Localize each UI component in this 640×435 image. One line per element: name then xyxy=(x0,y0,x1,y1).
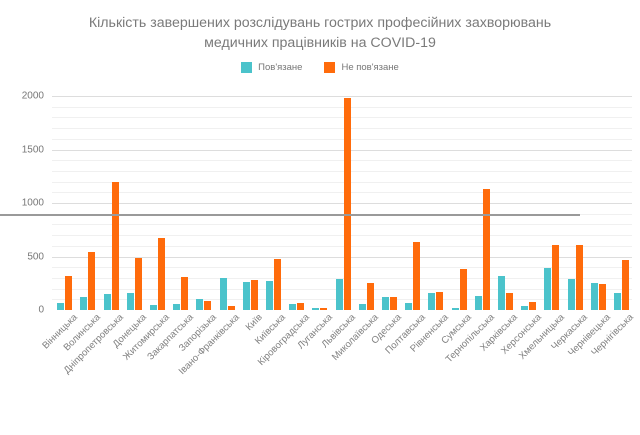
bar-group xyxy=(196,96,211,310)
bar[interactable] xyxy=(158,238,165,310)
bar[interactable] xyxy=(367,283,374,310)
bar[interactable] xyxy=(112,182,119,310)
bar-group xyxy=(80,96,95,310)
bar-group xyxy=(568,96,583,310)
bar[interactable] xyxy=(266,281,273,310)
bar[interactable] xyxy=(196,299,203,310)
bar[interactable] xyxy=(289,304,296,310)
bar[interactable] xyxy=(544,268,551,310)
bar-group xyxy=(312,96,327,310)
bar[interactable] xyxy=(274,259,281,310)
bar-group xyxy=(336,96,351,310)
bar-group xyxy=(104,96,119,310)
bar[interactable] xyxy=(576,245,583,310)
bar-group xyxy=(614,96,629,310)
bar-group xyxy=(591,96,606,310)
bar[interactable] xyxy=(204,301,211,310)
bar[interactable] xyxy=(498,276,505,310)
chart-title: Кількість завершених розслідувань гостри… xyxy=(0,13,640,53)
bar-group xyxy=(243,96,258,310)
bar[interactable] xyxy=(173,304,180,310)
plot-area xyxy=(52,96,632,310)
bar[interactable] xyxy=(135,258,142,310)
bar-group xyxy=(150,96,165,310)
bar[interactable] xyxy=(506,293,513,310)
bar[interactable] xyxy=(359,304,366,310)
bar[interactable] xyxy=(150,305,157,310)
legend-swatch-unrelated xyxy=(324,62,335,73)
bar-group xyxy=(544,96,559,310)
bar[interactable] xyxy=(127,293,134,310)
bar[interactable] xyxy=(475,296,482,310)
bar-group xyxy=(220,96,235,310)
bar[interactable] xyxy=(436,292,443,310)
bar[interactable] xyxy=(320,308,327,310)
bar[interactable] xyxy=(181,277,188,310)
bar[interactable] xyxy=(568,279,575,310)
bar[interactable] xyxy=(104,294,111,310)
bar[interactable] xyxy=(390,297,397,310)
bar[interactable] xyxy=(57,303,64,310)
legend-label-1: Не пов'язане xyxy=(341,62,398,73)
bar-group xyxy=(359,96,374,310)
y-tick-label-2000: 2000 xyxy=(0,91,44,102)
bar[interactable] xyxy=(405,303,412,310)
bar[interactable] xyxy=(312,308,319,310)
bar-group xyxy=(475,96,490,310)
y-tick-label-500: 500 xyxy=(0,251,44,262)
legend-label-0: Пов'язане xyxy=(258,62,302,73)
bar-group xyxy=(428,96,443,310)
bar-group xyxy=(452,96,467,310)
bar[interactable] xyxy=(80,297,87,310)
bar[interactable] xyxy=(452,308,459,310)
bar-group xyxy=(521,96,536,310)
y-tick-label-1000: 1000 xyxy=(0,198,44,209)
legend-entry-1[interactable]: Не пов'язане xyxy=(324,62,398,73)
bar[interactable] xyxy=(529,302,536,310)
bar-group xyxy=(405,96,420,310)
bar[interactable] xyxy=(428,293,435,310)
bar[interactable] xyxy=(344,98,351,310)
bar-group xyxy=(266,96,281,310)
bar[interactable] xyxy=(297,303,304,310)
legend-swatch-related xyxy=(241,62,252,73)
y-tick-label-1500: 1500 xyxy=(0,144,44,155)
bar[interactable] xyxy=(614,293,621,310)
bar[interactable] xyxy=(521,306,528,310)
bar[interactable] xyxy=(460,269,467,310)
x-axis-line xyxy=(0,214,580,216)
bar[interactable] xyxy=(413,242,420,310)
bar[interactable] xyxy=(65,276,72,310)
bar[interactable] xyxy=(591,283,598,310)
bar-group xyxy=(173,96,188,310)
bar-group xyxy=(127,96,142,310)
bar-group xyxy=(289,96,304,310)
bar[interactable] xyxy=(88,252,95,310)
bar[interactable] xyxy=(243,282,250,310)
bar[interactable] xyxy=(251,280,258,310)
legend-entry-0[interactable]: Пов'язане xyxy=(241,62,302,73)
bar[interactable] xyxy=(336,279,343,310)
bar-group xyxy=(382,96,397,310)
bar[interactable] xyxy=(622,260,629,310)
bar[interactable] xyxy=(483,189,490,310)
bar[interactable] xyxy=(220,278,227,310)
bar[interactable] xyxy=(382,297,389,310)
bar[interactable] xyxy=(552,245,559,310)
bar[interactable] xyxy=(599,284,606,310)
chart-legend: Пов'язанеНе пов'язане xyxy=(0,62,640,73)
bar-group xyxy=(498,96,513,310)
bar[interactable] xyxy=(228,306,235,310)
x-axis-tick-labels: ВінницькаВолинськаДніпропетровськаДонець… xyxy=(52,312,632,432)
bar-group xyxy=(57,96,72,310)
y-tick-label-0: 0 xyxy=(0,305,44,316)
bar-chart: Кількість завершених розслідувань гостри… xyxy=(0,0,640,435)
